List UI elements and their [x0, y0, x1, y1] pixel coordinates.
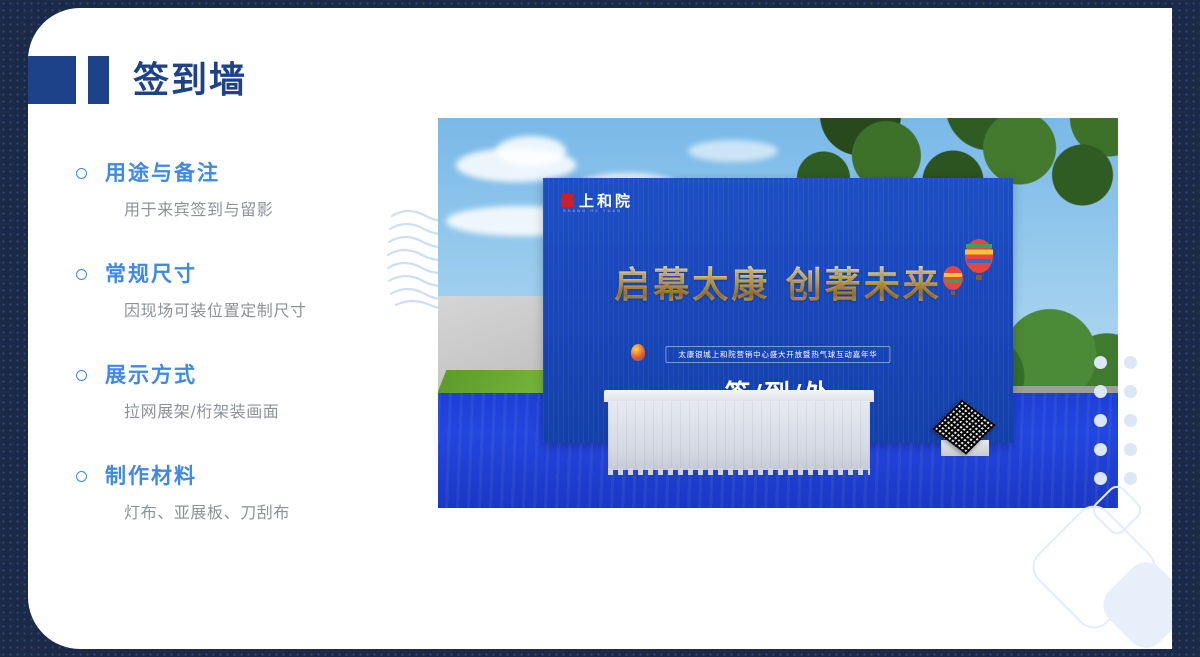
bullet-circle-icon [76, 370, 87, 381]
title-accent-bar-narrow [88, 56, 109, 104]
dot [1094, 356, 1107, 369]
list-item: 常规尺寸 因现场可装位置定制尺寸 [76, 259, 406, 323]
page-title: 签到墙 [133, 56, 247, 104]
list-item-title: 制作材料 [105, 461, 406, 491]
list-item-desc: 因现场可装位置定制尺寸 [124, 299, 406, 323]
dot [1124, 356, 1137, 369]
dot [1094, 472, 1107, 485]
dot [1124, 472, 1137, 485]
diamond-outline-decoration [994, 485, 1172, 649]
dot [1124, 414, 1137, 427]
bullet-circle-icon [76, 471, 87, 482]
backdrop-subtitle: 太康银城上和院营销中心盛大开放暨热气球互动嘉年华 [665, 346, 890, 363]
slide-root: 签到墙 用途与备注 用于来宾签到与留影 常规尺寸 因现场可装位置定制尺寸 展示方… [0, 0, 1200, 657]
slide-card: 签到墙 用途与备注 用于来宾签到与留影 常规尺寸 因现场可装位置定制尺寸 展示方… [28, 8, 1172, 649]
logo-mark-icon [561, 194, 574, 207]
bullet-circle-icon [76, 269, 87, 280]
title-accent-bar-wide [28, 56, 76, 104]
hot-air-balloon-icon [941, 236, 1001, 316]
list-item: 用途与备注 用于来宾签到与留影 [76, 158, 406, 222]
dot-grid-decoration [1094, 356, 1154, 501]
dot [1094, 443, 1107, 456]
spec-list: 用途与备注 用于来宾签到与留影 常规尺寸 因现场可装位置定制尺寸 展示方式 拉网… [76, 158, 406, 525]
list-item: 制作材料 灯布、亚展板、刀刮布 [76, 461, 406, 525]
list-item: 展示方式 拉网展架/桁架装画面 [76, 360, 406, 424]
list-item-desc: 灯布、亚展板、刀刮布 [124, 501, 406, 525]
cloud-shape [688, 140, 778, 162]
dot [1094, 385, 1107, 398]
signin-wall-photo: 上和院 SHANG HE YUAN 启幕太康 创著未来 太康银城上和院营销中心盛… [438, 118, 1118, 508]
list-item-title: 展示方式 [105, 360, 406, 390]
list-item-title: 常规尺寸 [105, 259, 406, 289]
dot [1094, 414, 1107, 427]
dot [1124, 443, 1137, 456]
balloon-icon [631, 344, 645, 361]
cloud-shape [496, 136, 566, 166]
list-item-desc: 拉网展架/桁架装画面 [124, 400, 406, 424]
list-item-desc: 用于来宾签到与留影 [124, 198, 406, 222]
dot [1124, 385, 1137, 398]
registration-table-hem [608, 468, 870, 475]
backdrop-logo-subtext: SHANG HE YUAN [563, 208, 622, 213]
registration-table-skirt [608, 401, 870, 470]
list-item-title: 用途与备注 [105, 158, 406, 188]
bullet-circle-icon [76, 168, 87, 179]
